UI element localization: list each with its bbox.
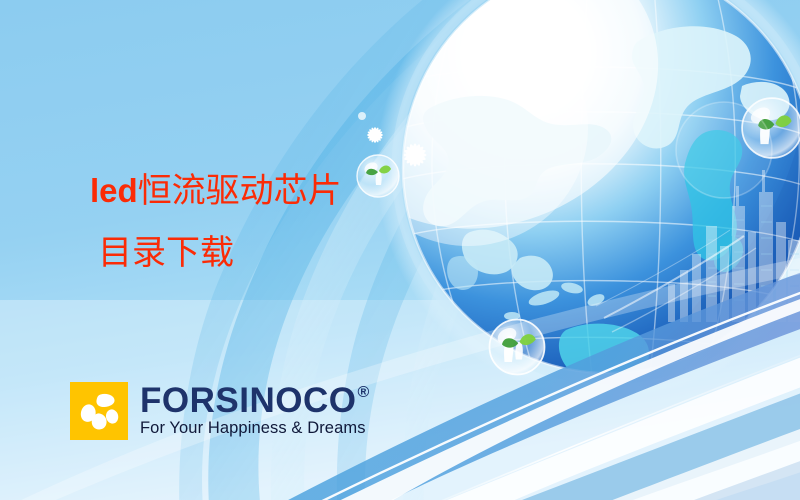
registered-trademark-icon: ® [357, 385, 369, 401]
four-petal-pinwheel-icon [70, 382, 128, 440]
banner-canvas: led恒流驱动芯片 目录下载 FORSINOCO® For Your Happi… [0, 0, 800, 500]
eco-bubble [357, 155, 399, 197]
logo-wordmark-text: FORSINOCO [140, 384, 356, 418]
logo-text-block: FORSINOCO® For Your Happiness & Dreams [140, 384, 370, 438]
brand-logo[interactable]: FORSINOCO® For Your Happiness & Dreams [70, 382, 370, 440]
logo-tagline: For Your Happiness & Dreams [140, 419, 370, 438]
sparkle-dot [358, 112, 366, 120]
eco-bubble [490, 320, 545, 375]
logo-wordmark: FORSINOCO® [140, 384, 370, 418]
